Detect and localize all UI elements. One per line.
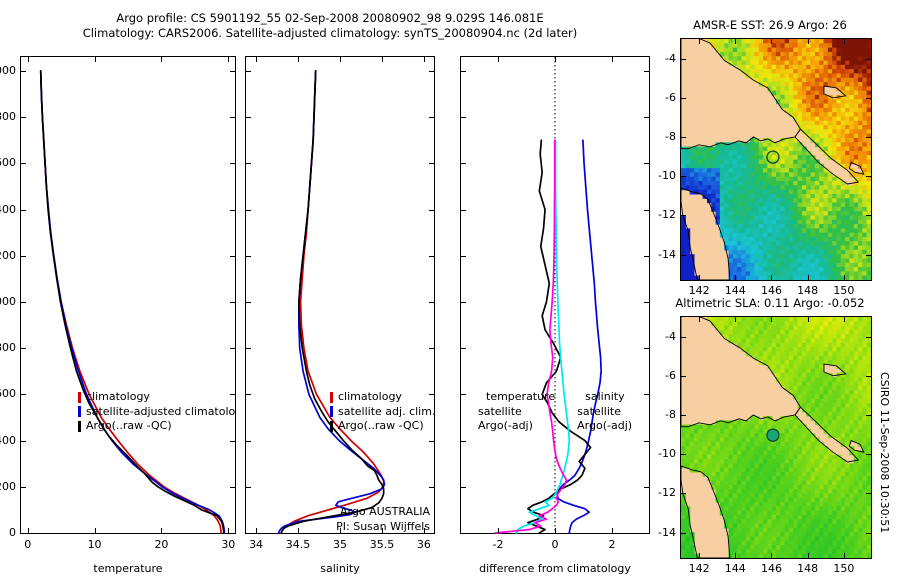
y-tickmark <box>21 256 26 257</box>
x-tickmark <box>256 528 257 533</box>
y-tickmark <box>429 71 434 72</box>
legend-color-swatch <box>330 421 333 432</box>
map-lon-tickmark <box>771 275 772 280</box>
x-tick-label: 10 <box>73 538 117 551</box>
y-tickmark <box>21 302 26 303</box>
y-tickmark <box>246 394 251 395</box>
y-tickmark <box>246 163 251 164</box>
map-lon-tickmark <box>735 553 736 558</box>
legend-color-swatch <box>78 392 81 403</box>
sst-map-title: AMSR-E SST: 26.9 Argo: 26 <box>655 18 885 32</box>
map-lat-tick-label: -8 <box>654 130 676 143</box>
map-lon-tickmark <box>844 317 845 322</box>
y-tickmark <box>461 394 466 395</box>
y-tickmark <box>230 302 235 303</box>
map-lon-tick-label: 144 <box>715 562 755 575</box>
x-tickmark <box>95 57 96 62</box>
y-tickmark <box>230 441 235 442</box>
map-lat-tick-label: -6 <box>654 91 676 104</box>
y-tickmark <box>461 210 466 211</box>
temperature-profile-panel <box>20 56 236 534</box>
map-lat-tickmark <box>866 137 871 138</box>
x-tickmark <box>161 528 162 533</box>
y-tickmark <box>21 441 26 442</box>
y-tickmark <box>230 487 235 488</box>
y-tickmark <box>644 71 649 72</box>
legend-row: Argo(-adj) <box>478 419 555 434</box>
figure-title-line1: Argo profile: CS 5901192_55 02-Sep-2008 … <box>0 11 660 26</box>
argo-credit-line1: Argo AUSTRALIA <box>300 505 430 520</box>
map-lat-tick-label: -14 <box>654 248 676 261</box>
salinity-axis-label: salinity <box>245 562 435 575</box>
map-lat-tickmark <box>681 493 686 494</box>
map-lat-tickmark <box>866 98 871 99</box>
legend-label: satellite <box>577 405 621 418</box>
y-tick-label: 400 <box>0 434 16 447</box>
map-lon-tickmark <box>844 39 845 44</box>
legend-row: climatology <box>330 390 440 405</box>
y-tick-label: 2000 <box>0 64 16 77</box>
map-lat-tickmark <box>681 337 686 338</box>
map-lat-tickmark <box>681 533 686 534</box>
map-lon-tickmark <box>808 39 809 44</box>
y-tick-label: 1800 <box>0 110 16 123</box>
map-lat-tickmark <box>866 376 871 377</box>
temperature-axis-label: temperature <box>20 562 236 575</box>
legend-label: Argo(..raw -QC) <box>86 419 172 434</box>
legend-column: temperaturesatelliteArgo(-adj) <box>478 390 555 434</box>
y-tickmark <box>21 117 26 118</box>
sla-map-raster <box>681 317 871 558</box>
map-lon-tick-label: 142 <box>679 562 719 575</box>
y-tickmark <box>644 256 649 257</box>
map-lon-tickmark <box>771 553 772 558</box>
difference-profile-plot <box>461 57 649 533</box>
y-tickmark <box>246 533 251 534</box>
map-lat-tickmark <box>681 137 686 138</box>
y-tickmark <box>461 533 466 534</box>
map-lat-tick-label: -8 <box>654 408 676 421</box>
y-tickmark <box>644 441 649 442</box>
map-lon-tick-label: 146 <box>751 562 791 575</box>
map-lon-tickmark <box>771 317 772 322</box>
sla-map <box>680 316 872 559</box>
map-lon-tickmark <box>735 39 736 44</box>
x-tick-label: -2 <box>476 538 520 551</box>
map-lon-tickmark <box>699 553 700 558</box>
y-tickmark <box>644 210 649 211</box>
legend-color-swatch <box>330 392 333 403</box>
x-tickmark <box>340 57 341 62</box>
map-lat-tick-label: -14 <box>654 526 676 539</box>
sst-map <box>680 38 872 281</box>
argo-credit: Argo AUSTRALIA PI: Susan Wijffels <box>300 505 430 534</box>
x-tick-label: 20 <box>139 538 183 551</box>
legend-row: satellite <box>577 405 632 420</box>
map-lat-tickmark <box>681 215 686 216</box>
map-lat-tickmark <box>681 59 686 60</box>
y-tickmark <box>230 71 235 72</box>
y-tickmark <box>429 210 434 211</box>
map-lat-tickmark <box>866 337 871 338</box>
x-tick-label: 34.5 <box>276 538 320 551</box>
y-tick-label: 0 <box>0 526 16 539</box>
legend-row: satellite-adjusted climatology <box>78 405 235 420</box>
legend-label: Argo(..raw -QC) <box>338 419 424 434</box>
y-tickmark <box>461 256 466 257</box>
temperature-profile-plot <box>21 57 235 533</box>
x-tickmark <box>498 57 499 62</box>
y-tick-label: 200 <box>0 480 16 493</box>
map-lon-tickmark <box>699 39 700 44</box>
difference-axis-label: difference from climatology <box>460 562 650 575</box>
y-tick-label: 1600 <box>0 156 16 169</box>
legend-column-header: temperature <box>478 390 555 405</box>
y-tick-label: 1400 <box>0 203 16 216</box>
x-tickmark <box>28 528 29 533</box>
y-tickmark <box>644 348 649 349</box>
x-tick-label: 2 <box>590 538 634 551</box>
legend-column: salinitysatelliteArgo(-adj) <box>577 390 632 434</box>
x-tickmark <box>228 57 229 62</box>
y-tickmark <box>21 487 26 488</box>
map-lat-tick-label: -4 <box>654 52 676 65</box>
y-tickmark <box>230 163 235 164</box>
y-tickmark <box>461 163 466 164</box>
y-tickmark <box>644 117 649 118</box>
salinity-profile-plot <box>246 57 434 533</box>
x-tickmark <box>424 57 425 62</box>
map-lon-tickmark <box>735 317 736 322</box>
x-tick-label: 35 <box>318 538 362 551</box>
y-tickmark <box>644 302 649 303</box>
legend-row: Argo(..raw -QC) <box>330 419 440 434</box>
legend-row: Argo(..raw -QC) <box>78 419 235 434</box>
y-tick-label: 1200 <box>0 249 16 262</box>
y-tickmark <box>246 210 251 211</box>
legend-label: climatology <box>86 390 150 405</box>
difference-profile-panel <box>460 56 650 534</box>
map-lat-tickmark <box>681 415 686 416</box>
map-lon-tickmark <box>699 275 700 280</box>
y-tickmark <box>461 487 466 488</box>
x-tickmark <box>161 57 162 62</box>
map-lat-tickmark <box>866 59 871 60</box>
map-lat-tickmark <box>866 215 871 216</box>
legend-row: satellite <box>478 405 555 420</box>
x-tickmark <box>555 528 556 533</box>
legend-color-swatch <box>78 406 81 417</box>
map-lon-tickmark <box>808 275 809 280</box>
x-tickmark <box>28 57 29 62</box>
y-tickmark <box>21 394 26 395</box>
map-lon-tickmark <box>771 39 772 44</box>
x-tick-label: 35.5 <box>360 538 404 551</box>
y-tickmark <box>246 117 251 118</box>
x-tickmark <box>612 528 613 533</box>
temperature-legend: climatologysatellite-adjusted climatolog… <box>78 390 235 434</box>
y-tickmark <box>230 533 235 534</box>
y-tickmark <box>644 487 649 488</box>
legend-label: satellite adj. clim. <box>338 405 435 420</box>
map-lat-tickmark <box>681 376 686 377</box>
legend-label: satellite <box>478 405 522 418</box>
map-lon-tickmark <box>735 275 736 280</box>
map-lat-tick-label: -4 <box>654 330 676 343</box>
map-lat-tickmark <box>681 176 686 177</box>
y-tickmark <box>461 71 466 72</box>
map-lon-tickmark <box>844 275 845 280</box>
map-lat-tickmark <box>866 415 871 416</box>
map-lon-tick-label: 150 <box>824 562 864 575</box>
y-tickmark <box>461 441 466 442</box>
legend-color-swatch <box>330 406 333 417</box>
figure-title: Argo profile: CS 5901192_55 02-Sep-2008 … <box>0 11 660 41</box>
x-tick-label: 36 <box>402 538 446 551</box>
salinity-legend: climatologysatellite adj. clim.Argo(..ra… <box>330 390 440 434</box>
legend-label: Argo(-adj) <box>478 419 533 432</box>
y-tickmark <box>246 71 251 72</box>
x-tickmark <box>498 528 499 533</box>
sla-map-title: Altimetric SLA: 0.11 Argo: -0.052 <box>655 296 885 310</box>
map-lon-tickmark <box>844 553 845 558</box>
map-lat-tickmark <box>681 98 686 99</box>
y-tick-label: 1000 <box>0 295 16 308</box>
map-lat-tick-label: -12 <box>654 486 676 499</box>
figure-canvas: Argo profile: CS 5901192_55 02-Sep-2008 … <box>0 0 900 580</box>
y-tickmark <box>21 163 26 164</box>
map-lon-tickmark <box>808 553 809 558</box>
y-tickmark <box>429 163 434 164</box>
map-lon-tick-label: 148 <box>788 562 828 575</box>
y-tickmark <box>461 117 466 118</box>
y-tickmark <box>21 348 26 349</box>
y-tickmark <box>21 210 26 211</box>
map-lat-tickmark <box>681 255 686 256</box>
y-tickmark <box>429 487 434 488</box>
map-lat-tick-label: -6 <box>654 369 676 382</box>
map-lat-tickmark <box>866 533 871 534</box>
salinity-profile-panel <box>245 56 435 534</box>
y-tickmark <box>21 71 26 72</box>
y-tickmark <box>230 256 235 257</box>
x-tick-label: 34 <box>234 538 278 551</box>
x-tickmark <box>382 57 383 62</box>
y-tickmark <box>429 441 434 442</box>
map-lon-tickmark <box>699 317 700 322</box>
legend-row: satellite adj. clim. <box>330 405 440 420</box>
map-lat-tick-label: -10 <box>654 169 676 182</box>
legend-row: Argo(-adj) <box>577 419 632 434</box>
map-lat-tickmark <box>681 454 686 455</box>
y-tickmark <box>246 302 251 303</box>
difference-legend: temperaturesatelliteArgo(-adj)salinitysa… <box>478 390 632 434</box>
x-tick-label: 0 <box>6 538 50 551</box>
x-tick-label: 0 <box>533 538 577 551</box>
x-tickmark <box>612 57 613 62</box>
legend-row: climatology <box>78 390 235 405</box>
y-tickmark <box>429 302 434 303</box>
y-tickmark <box>461 302 466 303</box>
y-tickmark <box>644 163 649 164</box>
argo-credit-line2: PI: Susan Wijffels <box>300 520 430 535</box>
y-tickmark <box>21 533 26 534</box>
map-lat-tickmark <box>866 255 871 256</box>
y-tickmark <box>429 348 434 349</box>
y-tick-label: 600 <box>0 387 16 400</box>
x-tickmark <box>298 57 299 62</box>
y-tickmark <box>461 348 466 349</box>
y-tickmark <box>230 210 235 211</box>
y-tickmark <box>429 117 434 118</box>
y-tick-label: 800 <box>0 341 16 354</box>
y-tickmark <box>246 441 251 442</box>
legend-label: climatology <box>338 390 402 405</box>
legend-label: satellite-adjusted climatology <box>86 405 235 420</box>
map-lat-tickmark <box>866 454 871 455</box>
y-tickmark <box>429 256 434 257</box>
csiro-timestamp: CSIRO 11-Sep-2008 10:30:51 <box>878 372 891 533</box>
map-lat-tickmark <box>866 176 871 177</box>
sst-map-raster <box>681 39 871 280</box>
y-tickmark <box>230 117 235 118</box>
x-tickmark <box>95 528 96 533</box>
y-tickmark <box>246 487 251 488</box>
y-tickmark <box>644 533 649 534</box>
map-lat-tickmark <box>866 493 871 494</box>
legend-label: Argo(-adj) <box>577 419 632 432</box>
map-lon-tickmark <box>808 317 809 322</box>
x-tickmark <box>256 57 257 62</box>
x-tickmark <box>298 528 299 533</box>
figure-title-line2: Climatology: CARS2006. Satellite-adjuste… <box>0 26 660 41</box>
y-tickmark <box>644 394 649 395</box>
legend-column-header: salinity <box>577 390 632 405</box>
legend-color-swatch <box>78 421 81 432</box>
map-lat-tick-label: -12 <box>654 208 676 221</box>
y-tickmark <box>246 256 251 257</box>
map-lat-tick-label: -10 <box>654 447 676 460</box>
y-tickmark <box>230 348 235 349</box>
x-tickmark <box>555 57 556 62</box>
y-tickmark <box>246 348 251 349</box>
